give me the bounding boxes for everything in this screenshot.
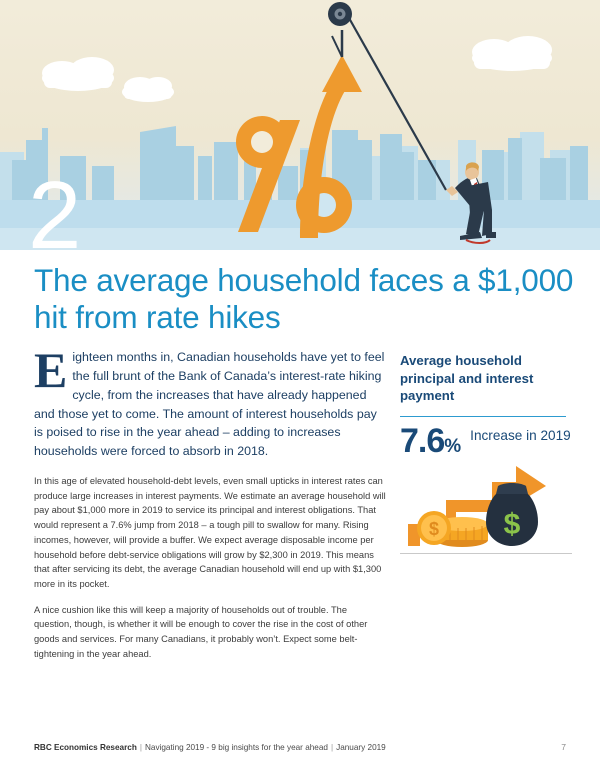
sidebar-illustration: $ $ [400, 460, 572, 552]
statistic-sidebar: Average household principal and interest… [400, 352, 572, 554]
svg-text:$: $ [504, 508, 521, 541]
page-number: 7 [561, 742, 566, 752]
lead-text: ighteen months in, Canadian households h… [34, 350, 384, 458]
page-title: The average household faces a $1,000 hit… [34, 262, 574, 336]
statistic-value: 7.6% [400, 426, 461, 457]
sidebar-bottom-divider [400, 553, 572, 554]
cloud-icon [122, 77, 174, 102]
hero-illustration: 2 [0, 0, 600, 250]
drop-cap: E [34, 350, 67, 391]
body-paragraph-2: A nice cushion like this will keep a maj… [34, 603, 386, 662]
statistic-unit: % [444, 436, 461, 457]
sidebar-title: Average household principal and interest… [400, 352, 572, 405]
footer-separator-2: | [331, 743, 333, 752]
statistic-label: Increase in 2019 [470, 426, 571, 444]
svg-text:$: $ [429, 519, 439, 539]
footer-date: January 2019 [336, 743, 386, 752]
sidebar-divider [400, 416, 566, 418]
body-paragraph-1: In this age of elevated household-debt l… [34, 474, 386, 592]
lead-paragraph: Eighteen months in, Canadian households … [34, 348, 386, 461]
footer-publication: Navigating 2019 - 9 big insights for the… [145, 743, 328, 752]
article-body: Eighteen months in, Canadian households … [34, 348, 386, 661]
ground-band-lower [0, 228, 600, 250]
chapter-number: 2 [28, 162, 81, 250]
statistic-number: 7.6 [400, 422, 444, 460]
page-footer: RBC Economics Research|Navigating 2019 -… [34, 742, 566, 752]
footer-separator-1: | [140, 743, 142, 752]
footer-brand: RBC Economics Research [34, 743, 137, 752]
statistic-row: 7.6% Increase in 2019 [400, 426, 572, 457]
footer-text: RBC Economics Research|Navigating 2019 -… [34, 743, 386, 752]
cloud-icon [472, 36, 552, 71]
